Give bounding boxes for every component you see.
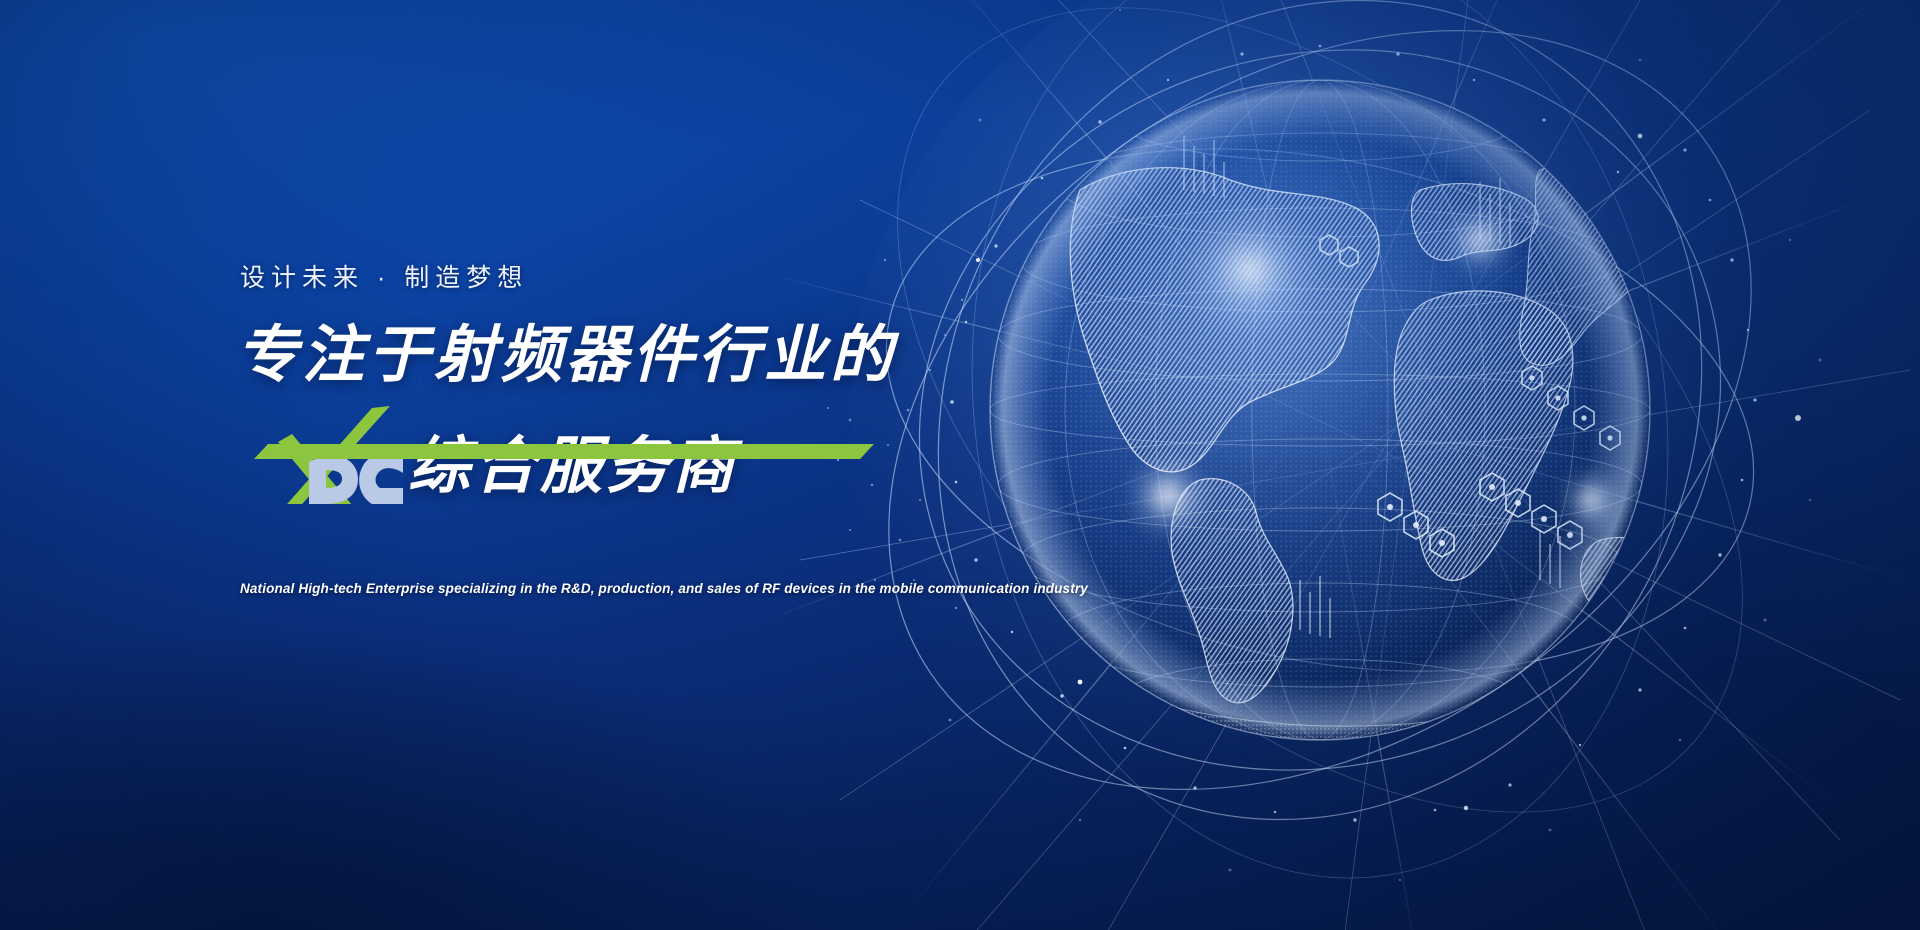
hero-copy: 设计未来 · 制造梦想 专注于射频器件行业的 综合服务商: [236, 258, 936, 504]
headline-line-1: 专注于射频器件行业的: [236, 320, 936, 392]
accent-underline-bar: [254, 444, 874, 459]
english-subtitle: National High-tech Enterprise specializi…: [240, 581, 1088, 596]
tagline: 设计未来 · 制造梦想: [240, 258, 936, 294]
hero-banner: 设计未来 · 制造梦想 专注于射频器件行业的 综合服务商 National Hi…: [0, 0, 1920, 930]
